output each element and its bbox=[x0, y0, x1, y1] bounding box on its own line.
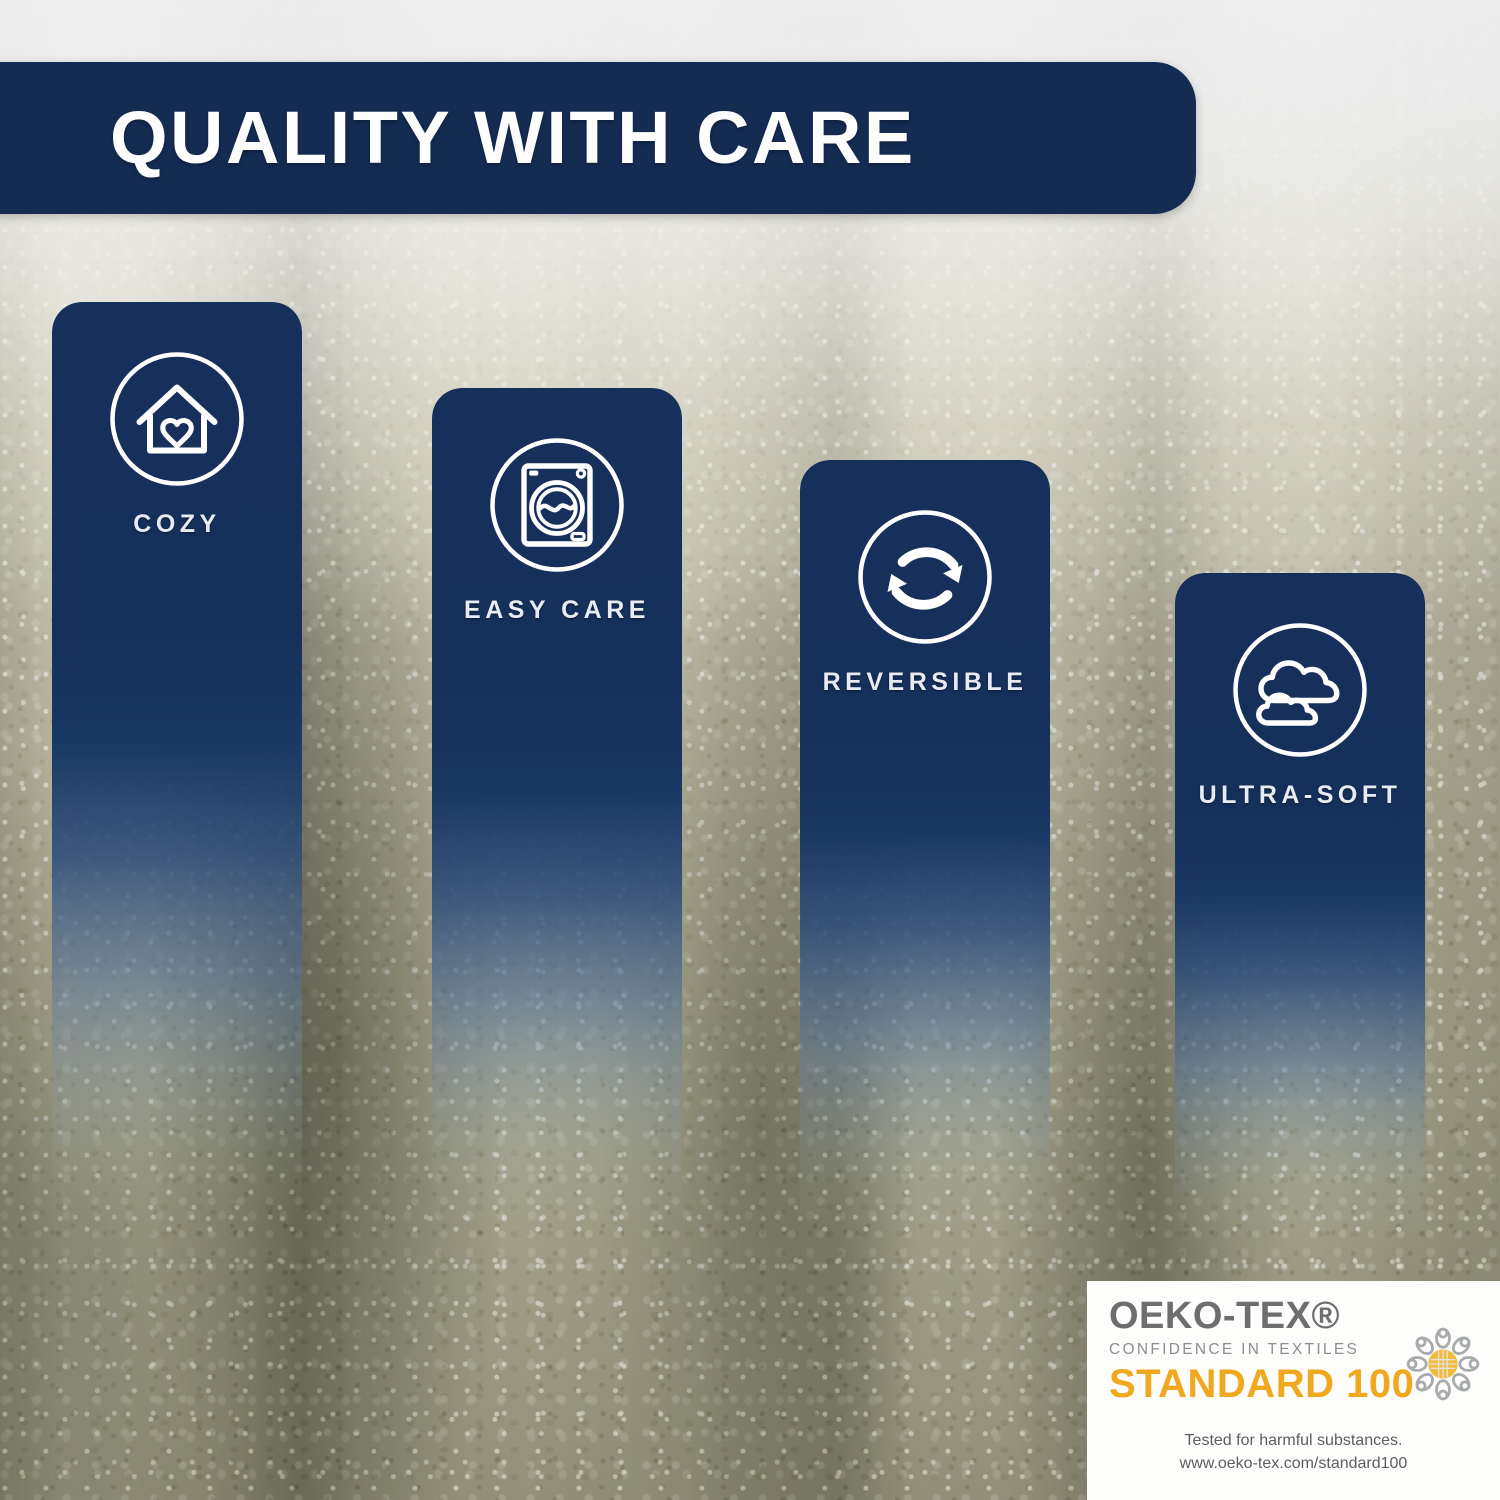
oeko-tex-standard: STANDARD 100 bbox=[1109, 1363, 1400, 1405]
product-feature-graphic: QUALITY WITH CARE COZY EASY CARE bbox=[0, 0, 1500, 1500]
feature-label-cozy: COZY bbox=[133, 510, 220, 539]
oeko-tex-header: OEKO-TEX® CONFIDENCE IN TEXTILES STANDAR… bbox=[1087, 1297, 1500, 1407]
feature-panel-reversible: REVERSIBLE bbox=[800, 460, 1050, 1270]
clouds-icon bbox=[1225, 615, 1375, 765]
feature-panel-ultra-soft: ULTRA-SOFT bbox=[1175, 573, 1425, 1273]
oeko-tex-text-column: OEKO-TEX® CONFIDENCE IN TEXTILES STANDAR… bbox=[1109, 1297, 1400, 1405]
washing-machine-icon bbox=[482, 430, 632, 580]
oeko-tex-certification-card: OEKO-TEX® CONFIDENCE IN TEXTILES STANDAR… bbox=[1087, 1281, 1500, 1500]
oeko-tex-fine-print-line-1: Tested for harmful substances. bbox=[1087, 1429, 1500, 1452]
oeko-tex-brand: OEKO-TEX® bbox=[1109, 1297, 1400, 1336]
oeko-tex-flower-icon bbox=[1400, 1321, 1486, 1407]
feature-panel-easy-care: EASY CARE bbox=[432, 388, 682, 1268]
oeko-tex-subtitle: CONFIDENCE IN TEXTILES bbox=[1109, 1338, 1400, 1361]
reversible-arrows-icon bbox=[850, 502, 1000, 652]
feature-label-easy-care: EASY CARE bbox=[464, 596, 650, 625]
header-banner: QUALITY WITH CARE bbox=[0, 62, 1196, 214]
house-heart-icon bbox=[102, 344, 252, 494]
feature-label-reversible: REVERSIBLE bbox=[823, 668, 1028, 697]
oeko-tex-fine-print-line-2: www.oeko-tex.com/standard100 bbox=[1087, 1452, 1500, 1475]
page-title: QUALITY WITH CARE bbox=[110, 101, 916, 175]
feature-label-ultra-soft: ULTRA-SOFT bbox=[1199, 781, 1402, 810]
oeko-tex-fine-print: Tested for harmful substances. www.oeko-… bbox=[1087, 1429, 1500, 1475]
feature-panel-cozy: COZY bbox=[52, 302, 302, 1262]
